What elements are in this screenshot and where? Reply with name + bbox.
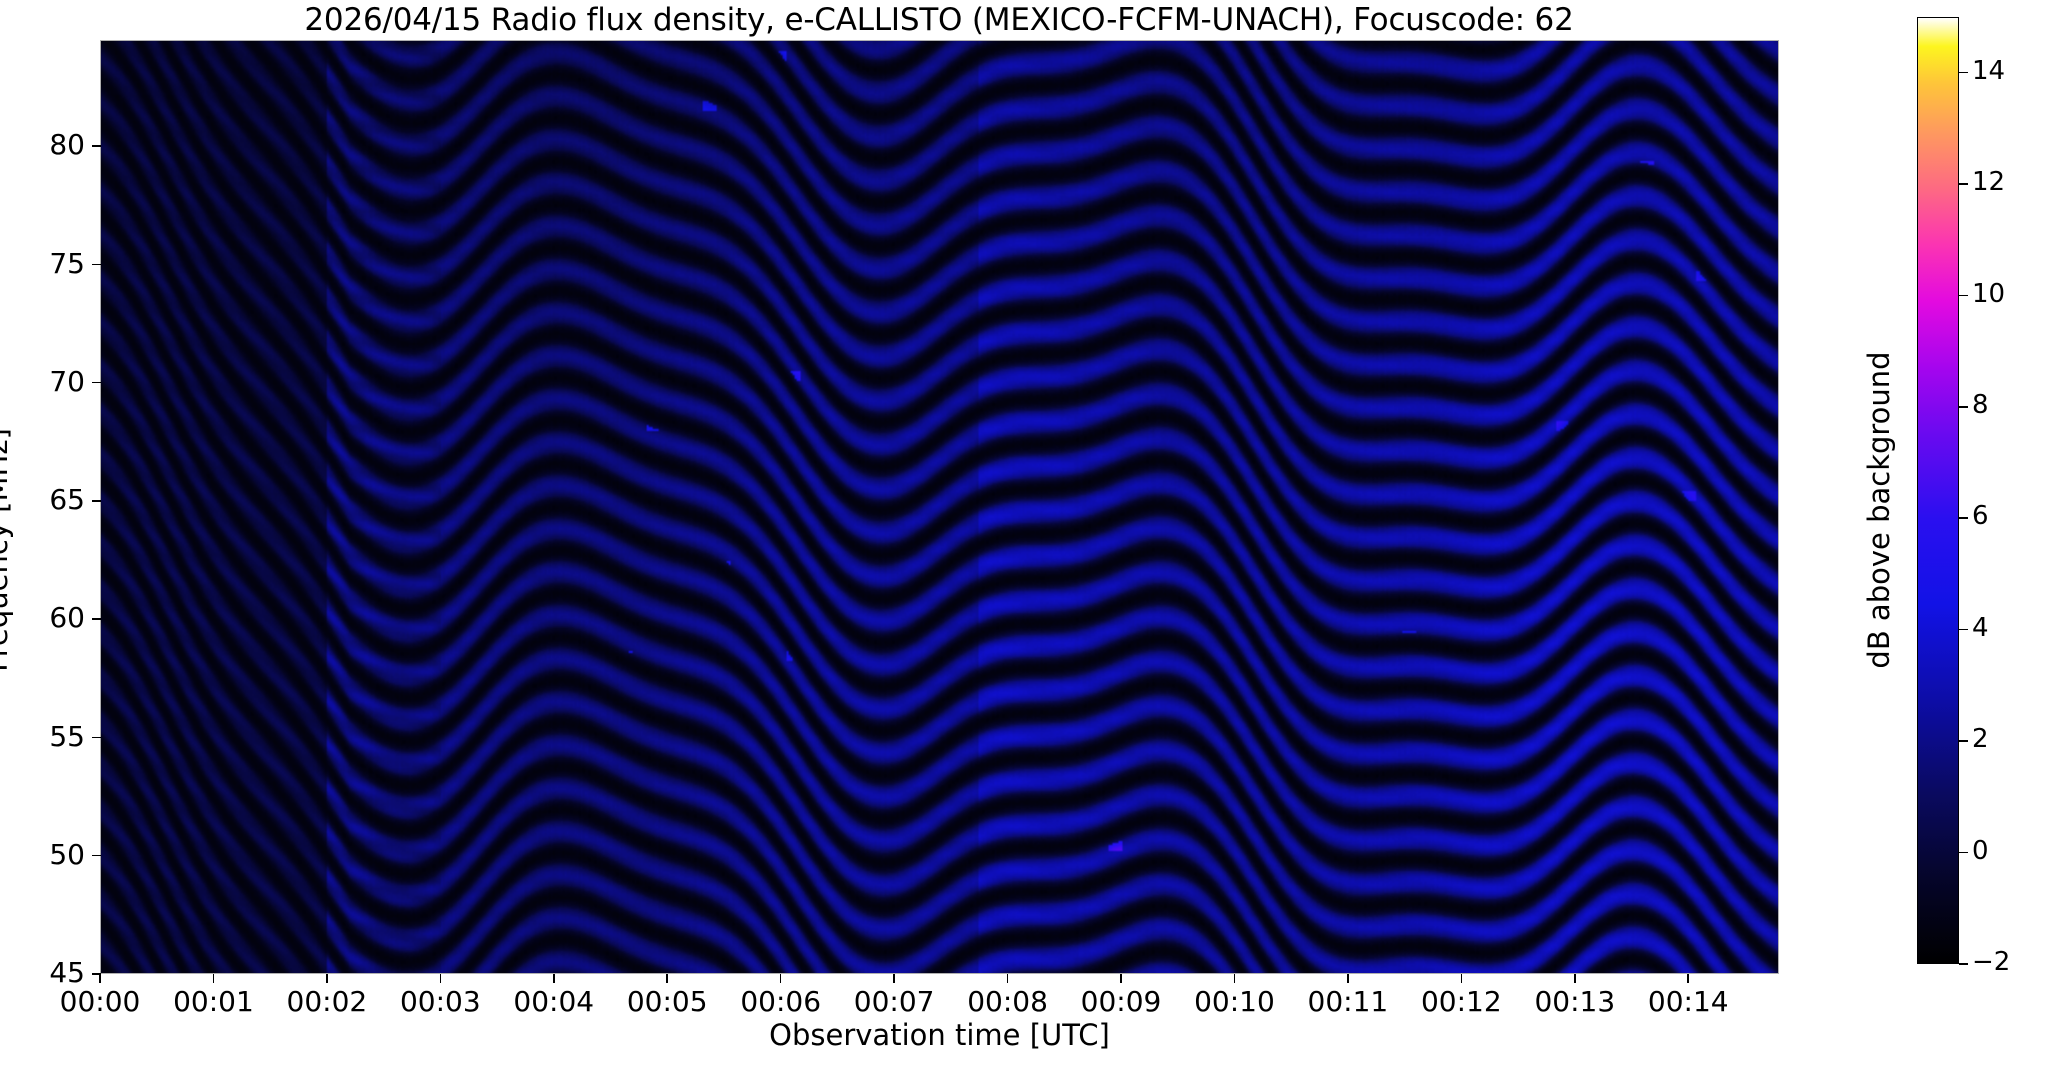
spectrogram-plot-area: [100, 40, 1779, 974]
y-tick-mark: [92, 264, 101, 266]
colorbar-tick-mark: [1959, 295, 1968, 297]
colorbar-tick-mark: [1959, 852, 1968, 854]
spectrogram-figure: 2026/04/15 Radio flux density, e-CALLIST…: [0, 0, 2047, 1067]
x-tick-mark: [1007, 974, 1009, 983]
y-tick-label: 55: [49, 720, 85, 753]
y-axis-label: Frequency [MHz]: [0, 400, 14, 700]
x-tick-mark: [326, 974, 328, 983]
x-tick-mark: [1461, 974, 1463, 983]
colorbar-tick-mark: [1959, 183, 1968, 185]
colorbar-label: dB above background: [1862, 300, 1896, 720]
y-tick-mark: [92, 618, 101, 620]
colorbar-tick-mark: [1959, 740, 1968, 742]
y-tick-label: 65: [49, 483, 85, 516]
page-title: 2026/04/15 Radio flux density, e-CALLIST…: [100, 2, 1778, 38]
colorbar-gradient: [1918, 18, 1958, 963]
x-tick-mark: [553, 974, 555, 983]
colorbar-tick-label: 14: [1972, 56, 2005, 86]
colorbar-tick-label: 6: [1972, 501, 1989, 531]
colorbar-tick-mark: [1959, 72, 1968, 74]
y-tick-label: 60: [49, 601, 85, 634]
y-tick-mark: [92, 737, 101, 739]
x-tick-mark: [213, 974, 215, 983]
x-tick-mark: [666, 974, 668, 983]
x-tick-mark: [1234, 974, 1236, 983]
x-tick-mark: [440, 974, 442, 983]
x-tick-mark: [893, 974, 895, 983]
x-tick-mark: [1347, 974, 1349, 983]
x-tick-mark: [780, 974, 782, 983]
colorbar-tick-mark: [1959, 406, 1968, 408]
colorbar-tick-label: 8: [1972, 390, 1989, 420]
y-tick-label: 80: [49, 128, 85, 161]
x-tick-mark: [1120, 974, 1122, 983]
colorbar-tick-mark: [1959, 963, 1968, 965]
x-tick-mark: [1574, 974, 1576, 983]
x-tick-mark: [1687, 974, 1689, 983]
y-tick-label: 50: [49, 838, 85, 871]
y-tick-mark: [92, 145, 101, 147]
colorbar-tick-label: −2: [1972, 947, 2010, 977]
y-tick-mark: [92, 500, 101, 502]
y-tick-label: 70: [49, 365, 85, 398]
x-tick-mark: [99, 974, 101, 983]
colorbar: [1917, 17, 1959, 964]
x-axis-label: Observation time [UTC]: [100, 1018, 1779, 1052]
x-tick-label: 00:14: [1613, 985, 1763, 1018]
spectrogram-heatmap: [101, 41, 1778, 973]
colorbar-tick-label: 4: [1972, 613, 1989, 643]
y-tick-mark: [92, 382, 101, 384]
colorbar-tick-label: 10: [1972, 279, 2005, 309]
colorbar-tick-label: 0: [1972, 836, 1989, 866]
colorbar-tick-label: 2: [1972, 724, 1989, 754]
colorbar-tick-mark: [1959, 517, 1968, 519]
y-tick-label: 75: [49, 247, 85, 280]
colorbar-tick-mark: [1959, 629, 1968, 631]
colorbar-tick-label: 12: [1972, 167, 2005, 197]
y-tick-mark: [92, 855, 101, 857]
